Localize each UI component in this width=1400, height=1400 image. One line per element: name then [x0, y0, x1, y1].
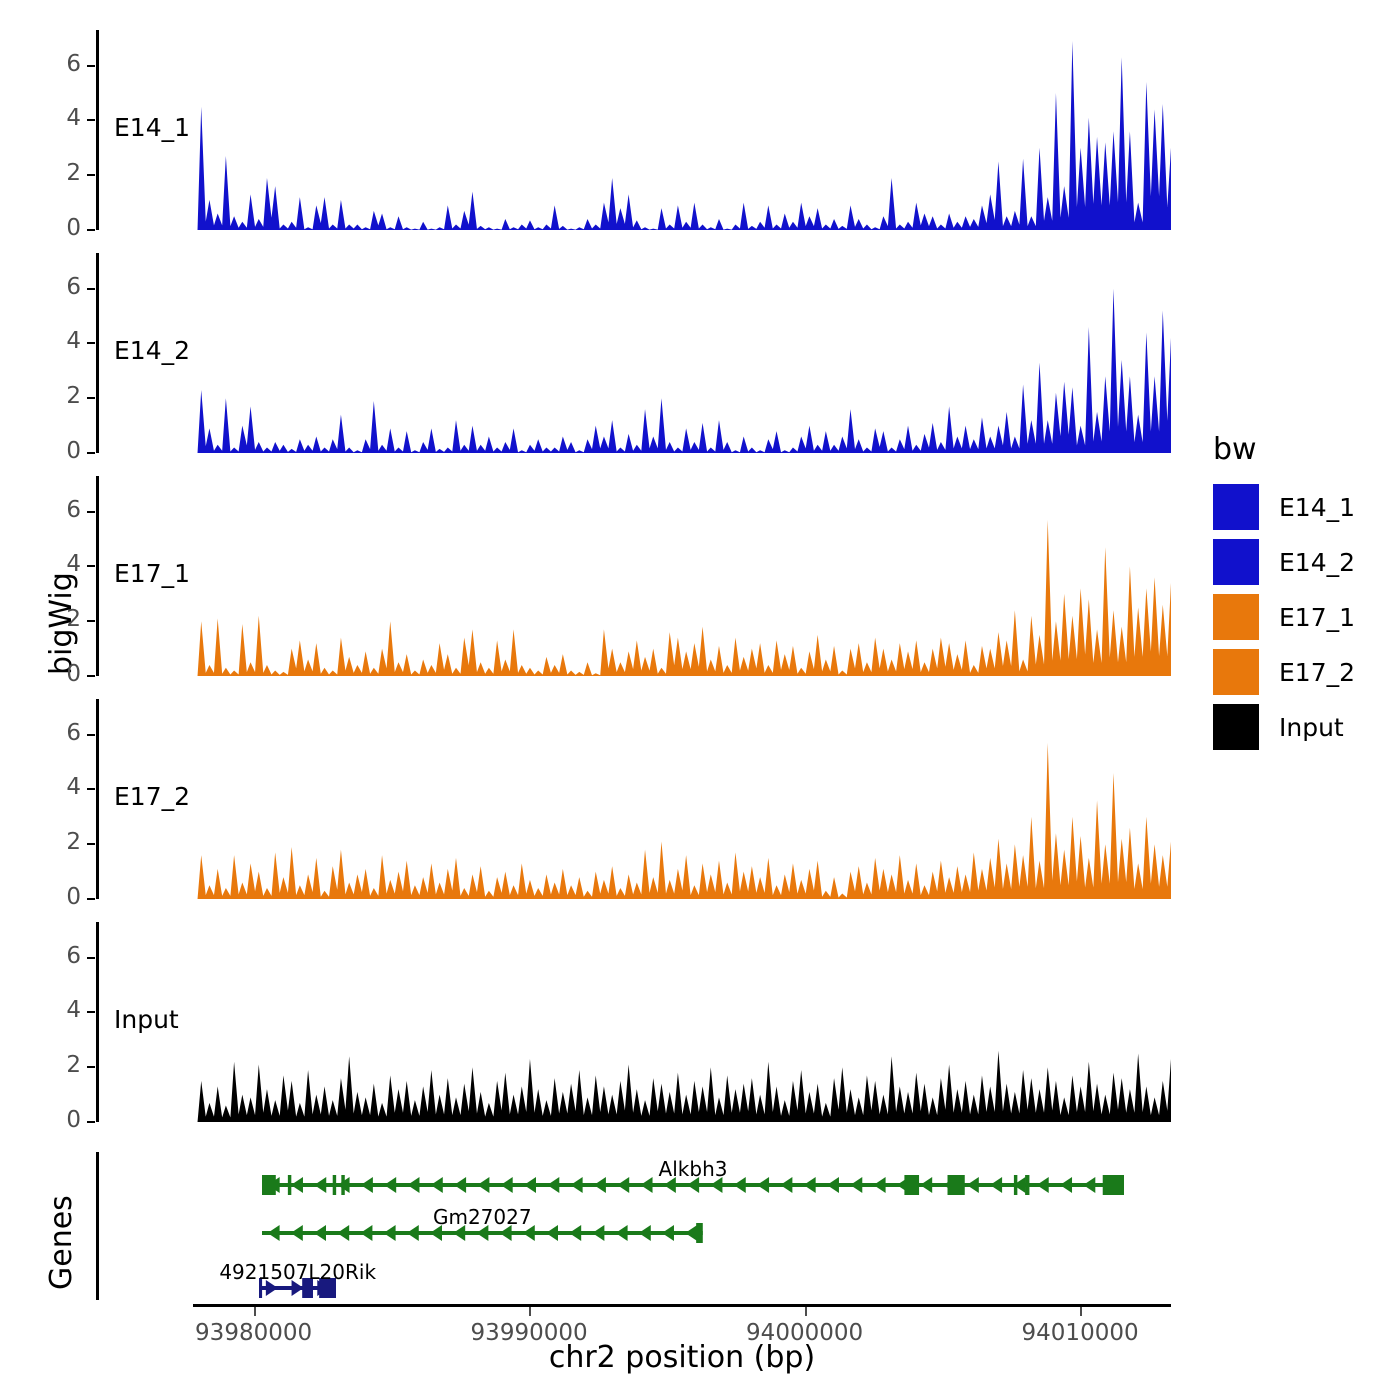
x-axis-line — [193, 1304, 1171, 1307]
y-axis-title-genes: Genes — [44, 1195, 79, 1290]
genome-browser-figure: bigWig Genes 0246E14_10246E14_20246E17_1… — [0, 0, 1400, 1400]
y-tick — [87, 119, 95, 121]
x-tick — [805, 1307, 807, 1316]
y-axis-line — [96, 922, 99, 1122]
signal-track-e17_1 — [193, 476, 1171, 676]
y-tick-label: 6 — [26, 274, 81, 300]
y-tick — [87, 565, 95, 567]
y-tick — [87, 511, 95, 513]
signal-track-e14_1 — [193, 30, 1171, 230]
x-tick — [1080, 1307, 1082, 1316]
gene-label-gm27027: Gm27027 — [433, 1205, 532, 1229]
y-tick — [87, 620, 95, 622]
y-tick-label: 0 — [26, 438, 81, 464]
legend-label: E17_2 — [1279, 658, 1355, 687]
y-axis-line — [96, 30, 99, 230]
y-tick-label: 6 — [26, 943, 81, 969]
track-label-e17_1: E17_1 — [114, 559, 190, 588]
legend-item-e14_2[interactable]: E14_2 — [1213, 539, 1355, 585]
y-tick — [87, 1011, 95, 1013]
track-label-input: Input — [114, 1005, 179, 1034]
y-tick — [87, 843, 95, 845]
y-axis-line — [96, 699, 99, 899]
y-tick-label: 0 — [26, 215, 81, 241]
y-tick — [87, 957, 95, 959]
y-tick-label: 4 — [26, 105, 81, 131]
x-tick — [529, 1307, 531, 1316]
y-tick-label: 6 — [26, 497, 81, 523]
gene-label-alkbh3: Alkbh3 — [659, 1157, 728, 1181]
legend-swatch-icon — [1213, 649, 1259, 695]
y-tick-label: 2 — [26, 160, 81, 186]
legend-item-input[interactable]: Input — [1213, 704, 1344, 750]
y-tick — [87, 1121, 95, 1123]
y-tick-label: 4 — [26, 997, 81, 1023]
y-tick-label: 2 — [26, 383, 81, 409]
legend-item-e17_1[interactable]: E17_1 — [1213, 594, 1355, 640]
y-tick-label: 2 — [26, 606, 81, 632]
legend-label: E14_2 — [1279, 548, 1355, 577]
y-tick-label: 6 — [26, 51, 81, 77]
y-tick — [87, 229, 95, 231]
legend-title: bw — [1213, 432, 1257, 467]
y-tick-label: 4 — [26, 328, 81, 354]
track-label-e14_1: E14_1 — [114, 113, 190, 142]
legend-item-e14_1[interactable]: E14_1 — [1213, 484, 1355, 530]
y-tick-label: 6 — [26, 720, 81, 746]
y-tick-label: 4 — [26, 774, 81, 800]
y-tick — [87, 734, 95, 736]
legend-label: E14_1 — [1279, 493, 1355, 522]
y-axis-line — [96, 253, 99, 453]
legend-swatch-icon — [1213, 594, 1259, 640]
y-tick — [87, 898, 95, 900]
y-tick — [87, 452, 95, 454]
y-tick — [87, 675, 95, 677]
gene-label-4921507l20rik: 4921507L20Rik — [219, 1260, 376, 1284]
signal-track-input — [193, 922, 1171, 1122]
legend-swatch-icon — [1213, 539, 1259, 585]
y-axis-line — [96, 476, 99, 676]
legend-item-e17_2[interactable]: E17_2 — [1213, 649, 1355, 695]
legend-label: Input — [1279, 713, 1344, 742]
y-tick-label: 4 — [26, 551, 81, 577]
y-tick — [87, 342, 95, 344]
signal-track-e17_2 — [193, 699, 1171, 899]
x-tick — [254, 1307, 256, 1316]
y-tick — [87, 1066, 95, 1068]
y-tick-label: 0 — [26, 884, 81, 910]
y-tick — [87, 397, 95, 399]
y-tick — [87, 174, 95, 176]
y-tick — [87, 288, 95, 290]
track-label-e14_2: E14_2 — [114, 336, 190, 365]
y-tick-label: 0 — [26, 1107, 81, 1133]
legend-swatch-icon — [1213, 704, 1259, 750]
y-tick — [87, 65, 95, 67]
signal-track-e14_2 — [193, 253, 1171, 453]
legend-label: E17_1 — [1279, 603, 1355, 632]
y-tick-label: 2 — [26, 1052, 81, 1078]
legend-swatch-icon — [1213, 484, 1259, 530]
track-label-e17_2: E17_2 — [114, 782, 190, 811]
genes-axis-line — [96, 1152, 99, 1300]
y-tick — [87, 788, 95, 790]
y-tick-label: 2 — [26, 829, 81, 855]
y-tick-label: 0 — [26, 661, 81, 687]
x-axis-title: chr2 position (bp) — [193, 1340, 1171, 1375]
